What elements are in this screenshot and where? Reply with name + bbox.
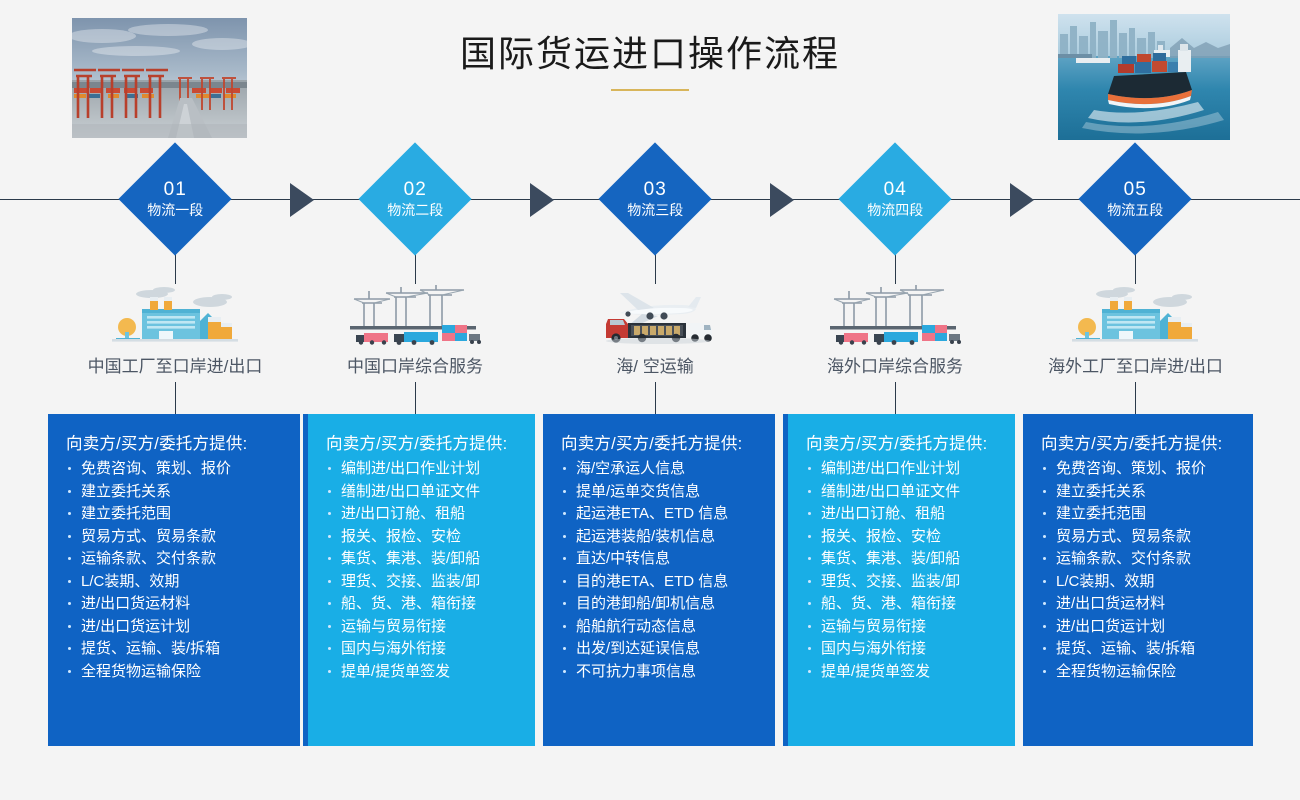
stem-panel-02 <box>415 382 416 414</box>
list-item: 起运港装船/装机信息 <box>557 529 763 544</box>
list-item: 建立委托范围 <box>1037 506 1241 521</box>
stem-panel-05 <box>1135 382 1136 414</box>
stage-number-02: 02 <box>387 178 443 202</box>
list-item: 提单/运单交货信息 <box>557 484 763 499</box>
list-item: 编制进/出口作业计划 <box>802 461 1003 476</box>
stage-label-01: 物流一段 <box>147 202 203 220</box>
list-item: 全程货物运输保险 <box>62 664 288 679</box>
list-item: 理货、交接、监装/卸 <box>802 574 1003 589</box>
panel-list: 免费咨询、策划、报价 建立委托关系 建立委托范围 贸易方式、贸易条款 运输条款、… <box>62 461 288 679</box>
panel-list: 免费咨询、策划、报价 建立委托关系 建立委托范围 贸易方式、贸易条款 运输条款、… <box>1037 461 1241 679</box>
list-item: 进/出口货运计划 <box>62 619 288 634</box>
title-block: 国际货运进口操作流程 <box>340 34 960 91</box>
stage-panel-04: 向卖方/买方/委托方提供: 编制进/出口作业计划 缮制进/出口单证文件 进/出口… <box>783 414 1015 746</box>
factory-illustration <box>1072 283 1198 345</box>
list-item: 运输与贸易衔接 <box>802 619 1003 634</box>
container-terminal-photo <box>72 18 247 138</box>
list-item: 建立委托关系 <box>62 484 288 499</box>
port-crane-illustration <box>342 283 488 345</box>
list-item: 目的港卸船/卸机信息 <box>557 596 763 611</box>
factory-illustration <box>112 283 238 345</box>
list-item: 进/出口订舱、租船 <box>802 506 1003 521</box>
stem-panel-04 <box>895 382 896 414</box>
stage-panel-03: 向卖方/买方/委托方提供: 海/空承运人信息 提单/运单交货信息 起运港ETA、… <box>543 414 775 746</box>
list-item: 船、货、港、箱衔接 <box>322 596 523 611</box>
list-item: 进/出口订舱、租船 <box>322 506 523 521</box>
list-item: 目的港ETA、ETD 信息 <box>557 574 763 589</box>
stage-node-01[interactable]: 01 物流一段 <box>118 142 231 255</box>
list-item: 进/出口货运材料 <box>1037 596 1241 611</box>
list-item: 提单/提货单签发 <box>322 664 523 679</box>
stage-caption-04: 海外口岸综合服务 <box>775 352 1015 377</box>
list-item: 起运港ETA、ETD 信息 <box>557 506 763 521</box>
list-item: 集货、集港、装/卸船 <box>802 551 1003 566</box>
list-item: 进/出口货运计划 <box>1037 619 1241 634</box>
stage-node-05[interactable]: 05 物流五段 <box>1078 142 1191 255</box>
panel-heading: 向卖方/买方/委托方提供: <box>66 430 288 454</box>
panel-heading: 向卖方/买方/委托方提供: <box>326 430 523 454</box>
list-item: 进/出口货运材料 <box>62 596 288 611</box>
list-item: 提货、运输、装/拆箱 <box>1037 641 1241 656</box>
stage-number-01: 01 <box>147 178 203 202</box>
list-item: 全程货物运输保险 <box>1037 664 1241 679</box>
list-item: 编制进/出口作业计划 <box>322 461 523 476</box>
flow-arrow-4 <box>1010 183 1034 217</box>
flow-arrow-1 <box>290 183 314 217</box>
list-item: 建立委托范围 <box>62 506 288 521</box>
list-item: 贸易方式、贸易条款 <box>62 529 288 544</box>
panel-list: 海/空承运人信息 提单/运单交货信息 起运港ETA、ETD 信息 起运港装船/装… <box>557 461 763 679</box>
flow-arrow-3 <box>770 183 794 217</box>
list-item: 国内与海外衔接 <box>322 641 523 656</box>
stage-node-04[interactable]: 04 物流四段 <box>838 142 951 255</box>
list-item: 提货、运输、装/拆箱 <box>62 641 288 656</box>
list-item: 运输与贸易衔接 <box>322 619 523 634</box>
stage-number-05: 05 <box>1107 178 1163 202</box>
list-item: 国内与海外衔接 <box>802 641 1003 656</box>
port-crane-illustration <box>822 283 968 345</box>
panel-heading: 向卖方/买方/委托方提供: <box>561 430 763 454</box>
list-item: 缮制进/出口单证文件 <box>802 484 1003 499</box>
panel-heading: 向卖方/买方/委托方提供: <box>806 430 1003 454</box>
stage-caption-03: 海/ 空运输 <box>535 352 775 377</box>
title-underline <box>611 89 689 91</box>
stem-panel-01 <box>175 382 176 414</box>
stage-panel-02: 向卖方/买方/委托方提供: 编制进/出口作业计划 缮制进/出口单证文件 进/出口… <box>303 414 535 746</box>
list-item: 直达/中转信息 <box>557 551 763 566</box>
stage-node-02[interactable]: 02 物流二段 <box>358 142 471 255</box>
list-item: 报关、报检、安检 <box>322 529 523 544</box>
stage-label-05: 物流五段 <box>1107 202 1163 220</box>
stage-node-03[interactable]: 03 物流三段 <box>598 142 711 255</box>
stage-panel-05: 向卖方/买方/委托方提供: 免费咨询、策划、报价 建立委托关系 建立委托范围 贸… <box>1023 414 1253 746</box>
list-item: 贸易方式、贸易条款 <box>1037 529 1241 544</box>
stage-number-04: 04 <box>867 178 923 202</box>
stage-label-02: 物流二段 <box>387 202 443 220</box>
list-item: 建立委托关系 <box>1037 484 1241 499</box>
panel-list: 编制进/出口作业计划 缮制进/出口单证文件 进/出口订舱、租船 报关、报检、安检… <box>802 461 1003 679</box>
flow-arrow-2 <box>530 183 554 217</box>
list-item: 运输条款、交付条款 <box>1037 551 1241 566</box>
stage-panel-01: 向卖方/买方/委托方提供: 免费咨询、策划、报价 建立委托关系 建立委托范围 贸… <box>48 414 300 746</box>
stage-caption-05: 海外工厂至口岸进/出口 <box>1008 352 1263 377</box>
list-item: 出发/到达延误信息 <box>557 641 763 656</box>
panel-heading: 向卖方/买方/委托方提供: <box>1041 430 1241 454</box>
stage-label-03: 物流三段 <box>627 202 683 220</box>
list-item: L/C装期、效期 <box>1037 574 1241 589</box>
list-item: 船、货、港、箱衔接 <box>802 596 1003 611</box>
container-ship-photo <box>1058 14 1230 140</box>
page-title: 国际货运进口操作流程 <box>340 34 960 74</box>
list-item: 不可抗力事项信息 <box>557 664 763 679</box>
stage-number-03: 03 <box>627 178 683 202</box>
list-item: 船舶航行动态信息 <box>557 619 763 634</box>
list-item: 报关、报检、安检 <box>802 529 1003 544</box>
stem-panel-03 <box>655 382 656 414</box>
list-item: 免费咨询、策划、报价 <box>1037 461 1241 476</box>
infographic-root: 国际货运进口操作流程 01 物流一段 02 物流二段 03 物流三段 04 物 <box>0 0 1300 800</box>
list-item: L/C装期、效期 <box>62 574 288 589</box>
air-road-transport-illustration <box>598 283 718 345</box>
panel-list: 编制进/出口作业计划 缮制进/出口单证文件 进/出口订舱、租船 报关、报检、安检… <box>322 461 523 679</box>
list-item: 缮制进/出口单证文件 <box>322 484 523 499</box>
list-item: 海/空承运人信息 <box>557 461 763 476</box>
list-item: 免费咨询、策划、报价 <box>62 461 288 476</box>
list-item: 理货、交接、监装/卸 <box>322 574 523 589</box>
stage-caption-02: 中国口岸综合服务 <box>295 352 535 377</box>
stage-label-04: 物流四段 <box>867 202 923 220</box>
list-item: 运输条款、交付条款 <box>62 551 288 566</box>
list-item: 集货、集港、装/卸船 <box>322 551 523 566</box>
list-item: 提单/提货单签发 <box>802 664 1003 679</box>
stage-caption-01: 中国工厂至口岸进/出口 <box>45 352 305 377</box>
